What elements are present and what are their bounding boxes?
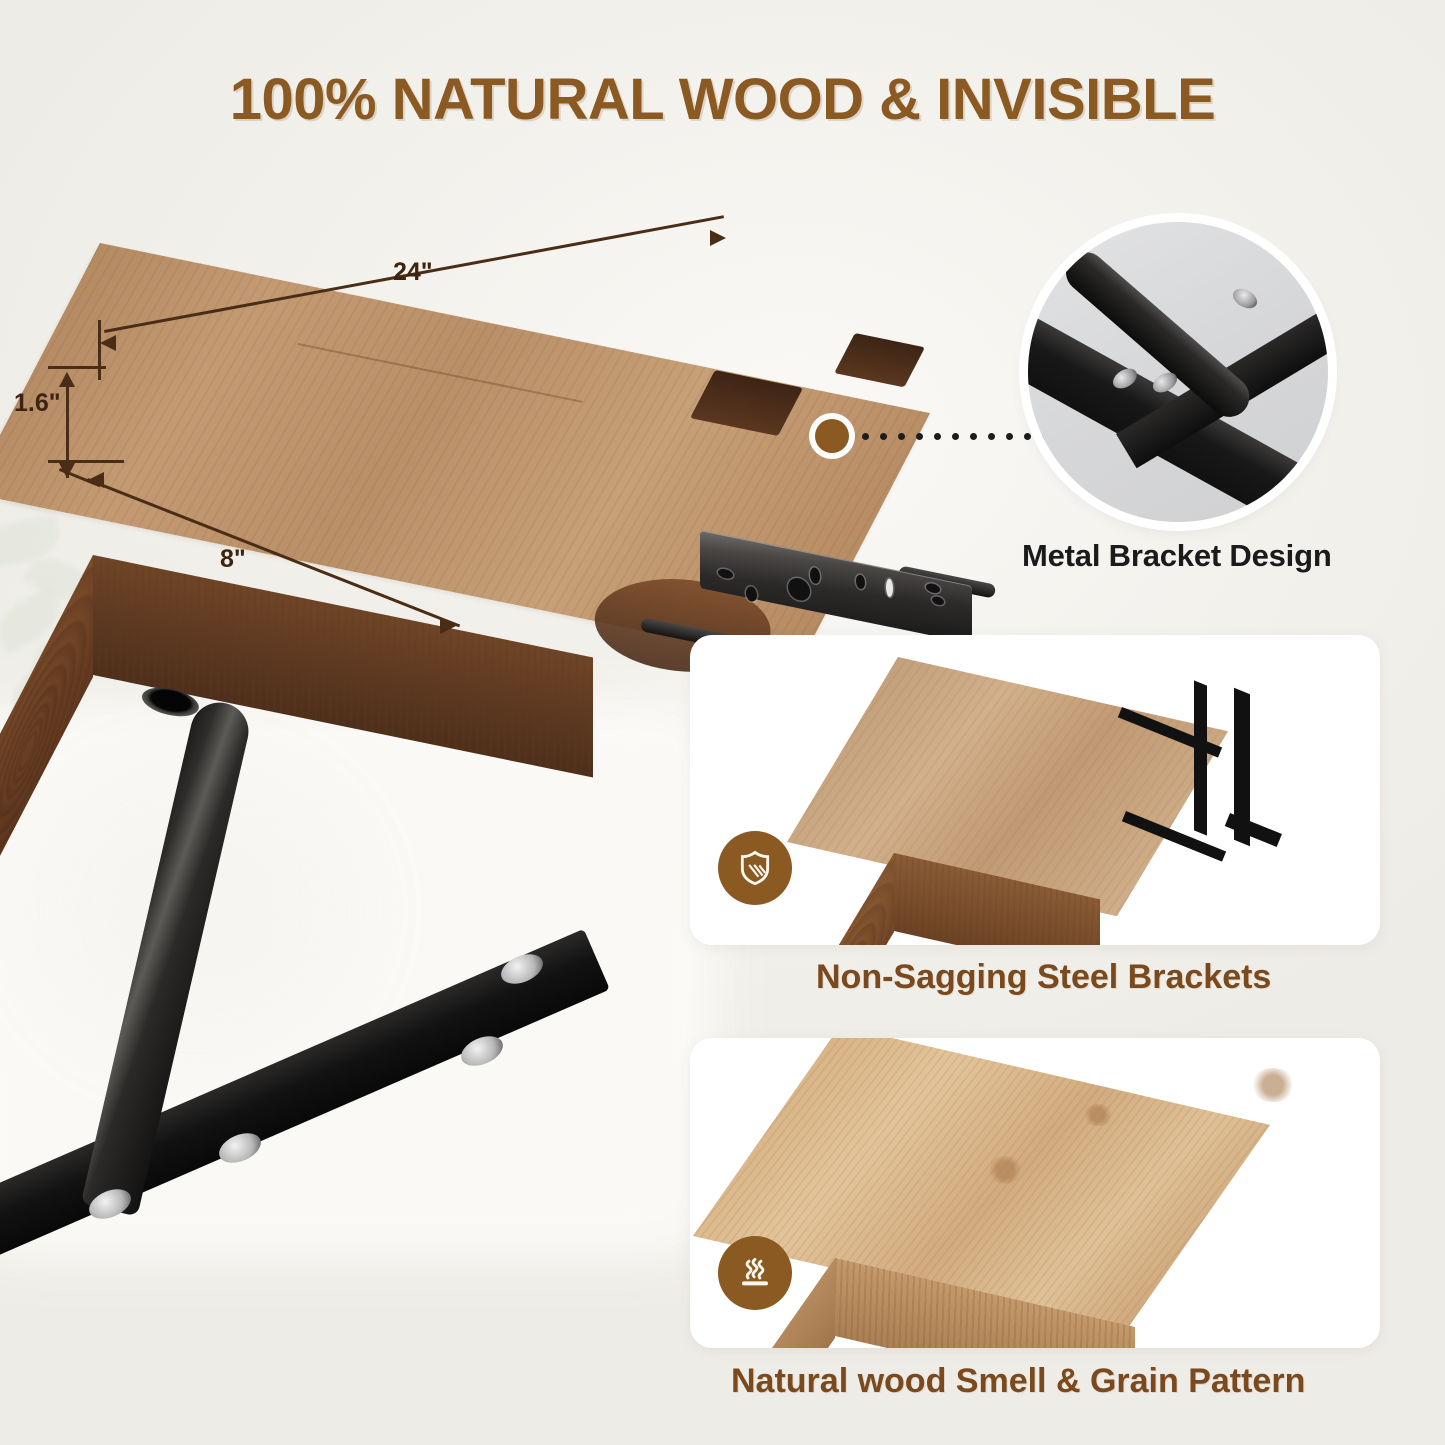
shield-icon [735,848,775,888]
dimension-label-depth: 8" [220,545,246,574]
magnified-bracket-circle [1028,222,1328,522]
mount-hole [856,574,865,590]
mount-hole [1230,285,1261,312]
dimension-tick-top [48,366,106,369]
page-title: 100% NATURAL WOOD & INVISIBLE [0,66,1445,133]
steel-t-bracket-photo [0,640,660,1445]
mount-hole [886,578,893,597]
dimension-label-thickness: 1.6" [14,389,61,418]
hero-shelf-illustration [60,215,1020,665]
keyhole-slot [788,576,810,603]
mount-hole [810,567,820,585]
infographic-canvas: 100% NATURAL WOOD & INVISIBLE 24" [0,0,1445,1445]
shield-icon-badge [718,831,792,905]
dimension-arrow-right [710,230,726,246]
feature-card-natural-smell[interactable] [690,1038,1380,1348]
dimension-tick-bottom [48,460,124,463]
aroma-icon-badge [718,1236,792,1310]
callout-marker [815,419,849,453]
metal-bracket-caption: Metal Bracket Design [1022,538,1332,574]
dimension-arrow-up [59,372,75,387]
shelf-bracket-notch [834,333,925,387]
wood-knot [1250,1068,1296,1102]
steel-bracket-upright [1194,680,1207,835]
bracket-rod-open-end [139,683,201,721]
wood-knot [986,1156,1024,1184]
dimension-arrow-left [100,335,116,351]
feature-caption-non-sagging: Non-Sagging Steel Brackets [816,958,1271,997]
feature-caption-natural-smell: Natural wood Smell & Grain Pattern [731,1362,1305,1401]
dimension-arrow-depth-right [440,618,456,634]
mount-hole [926,582,940,594]
wood-knot [1082,1104,1114,1126]
mount-hole [718,568,733,580]
dimension-label-length: 24" [393,258,433,287]
shelf-end-grain-face [774,853,894,945]
shelf-top-face [787,657,1228,916]
feature-card-non-sagging[interactable] [690,635,1380,945]
mount-hole [932,596,944,606]
aroma-icon [734,1252,776,1294]
